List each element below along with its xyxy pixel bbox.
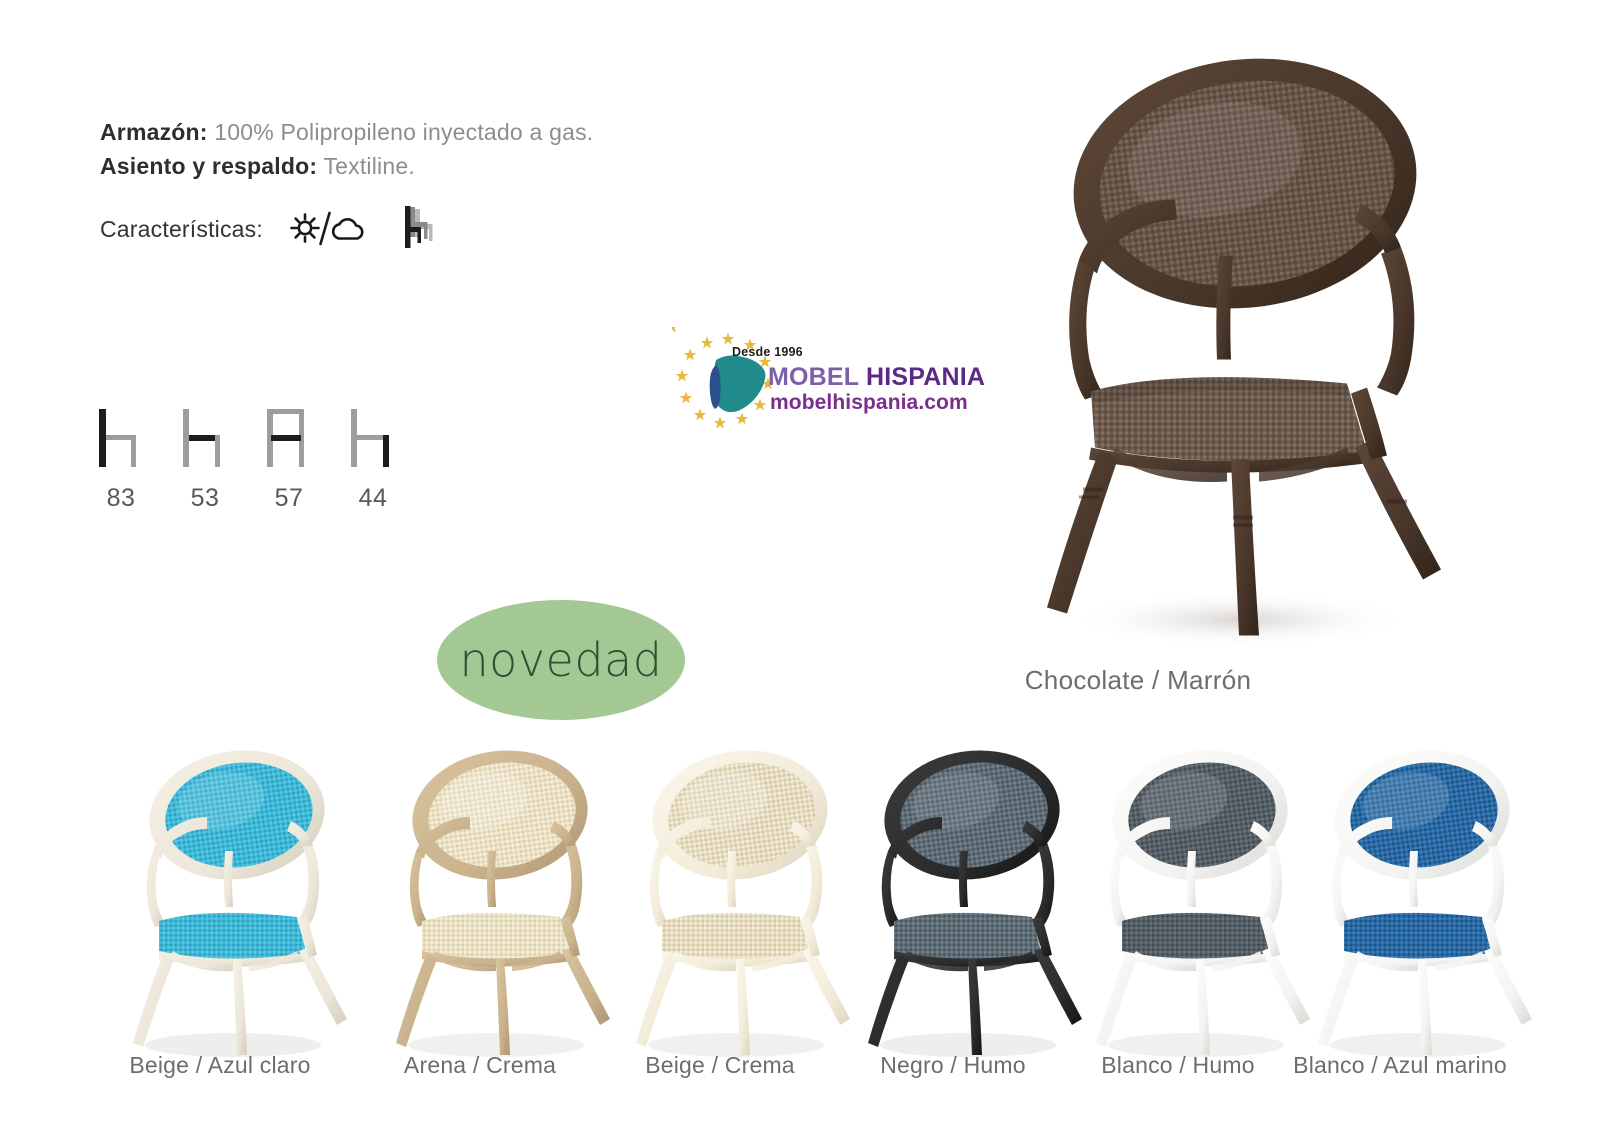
spec-frame-label: Armazón: xyxy=(100,119,208,145)
chair-depth-icon xyxy=(179,408,231,470)
spec-seat-line: Asiento y respaldo: Textiline. xyxy=(100,149,720,183)
variant-caption-1: Arena / Crema xyxy=(345,1052,615,1079)
characteristics-row: Características: xyxy=(100,205,441,253)
logo-brand-part2: HISPANIA xyxy=(866,363,985,391)
logo-brand-part1: MOBEL xyxy=(768,363,866,391)
brand-logo[interactable]: Desde 1996 MOBEL HISPANIA mobelhispania.… xyxy=(672,327,962,439)
chair-width-icon xyxy=(263,408,315,470)
variant-chair-2[interactable] xyxy=(608,735,858,1065)
dimension-item: 57 xyxy=(263,408,315,513)
portugal-shape xyxy=(710,365,721,409)
dimensions-diagram: 83 53 57 xyxy=(95,408,399,513)
spec-frame-value: 100% Polipropileno inyectado a gas. xyxy=(214,119,593,145)
variant-caption-5: Blanco / Azul marino xyxy=(1265,1052,1535,1079)
hero-chair-caption: Chocolate / Marrón xyxy=(968,665,1308,696)
characteristics-label: Características: xyxy=(100,216,263,243)
stackable-chairs-icon xyxy=(399,205,441,253)
dimension-item: 53 xyxy=(179,408,231,513)
logo-website-url[interactable]: mobelhispania.com xyxy=(770,391,968,415)
spec-frame-line: Armazón: 100% Polipropileno inyectado a … xyxy=(100,115,720,149)
variant-chair-4[interactable] xyxy=(1068,735,1318,1065)
novedad-badge-label: novedad xyxy=(460,633,663,687)
variant-chair-row xyxy=(0,735,1600,1065)
specifications-block: Armazón: 100% Polipropileno inyectado a … xyxy=(100,115,720,183)
variant-chair-0[interactable] xyxy=(105,735,355,1065)
spec-seat-value: Textiline. xyxy=(323,153,414,179)
dimension-value: 44 xyxy=(359,484,388,513)
variant-caption-2: Beige / Crema xyxy=(585,1052,855,1079)
logo-since-text: Desde 1996 xyxy=(732,345,803,359)
spec-seat-label: Asiento y respaldo: xyxy=(100,153,317,179)
sun-cloud-icon xyxy=(289,207,373,251)
variant-chair-3[interactable] xyxy=(840,735,1090,1065)
dimension-item: 83 xyxy=(95,408,147,513)
logo-brand-name: MOBEL HISPANIA xyxy=(768,363,985,392)
novedad-badge: novedad xyxy=(437,600,685,720)
dimension-value: 53 xyxy=(191,484,220,513)
dimension-item: 44 xyxy=(347,408,399,513)
chair-height-icon xyxy=(95,408,147,470)
dimension-value: 57 xyxy=(275,484,304,513)
chair-seat-height-icon xyxy=(347,408,399,470)
hero-chair-image xyxy=(975,35,1495,660)
variant-caption-0: Beige / Azul claro xyxy=(85,1052,355,1079)
variant-chair-1[interactable] xyxy=(368,735,618,1065)
variant-chair-5[interactable] xyxy=(1290,735,1540,1065)
dimension-value: 83 xyxy=(107,484,136,513)
